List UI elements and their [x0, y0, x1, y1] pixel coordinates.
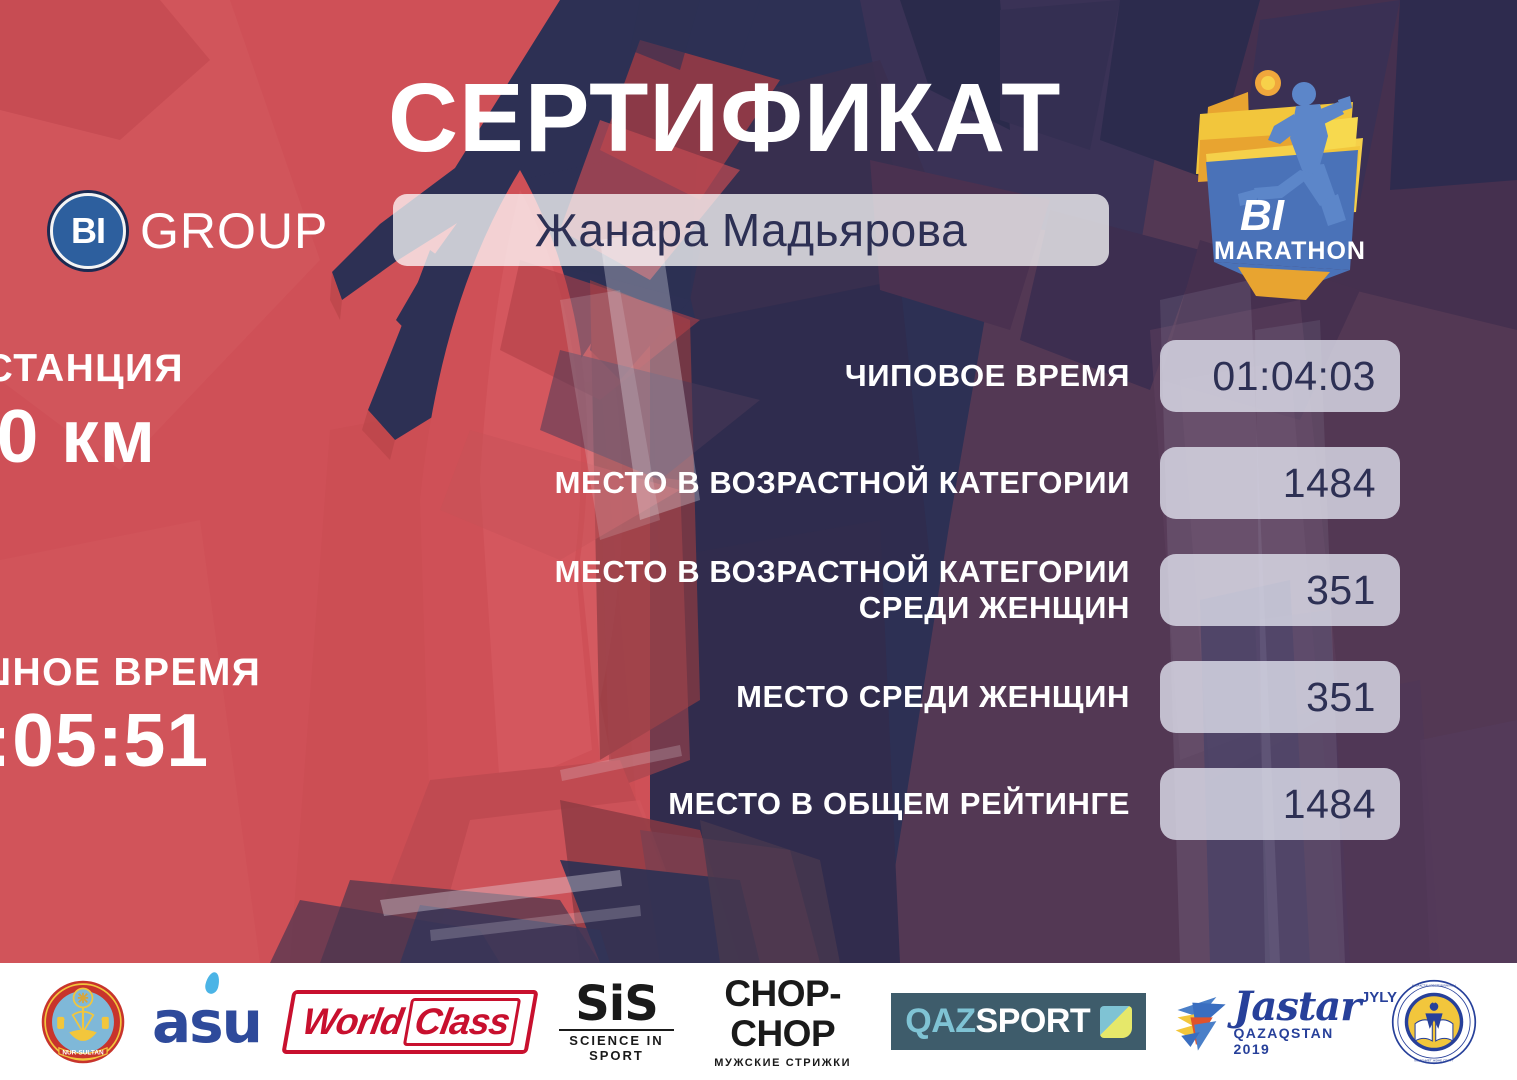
result-label-chip-time: ЧИПОВОЕ ВРЕМЯ — [520, 358, 1160, 394]
sponsor-nur-sultan-emblem: NUR-SULTAN — [40, 976, 126, 1068]
sponsor-science-in-sport: SiS SCIENCE IN SPORT — [559, 976, 674, 1068]
sponsor-jastar-name: Jastar — [1233, 987, 1365, 1027]
qazsport-mark-icon — [1100, 1006, 1132, 1038]
table-row: ЧИПОВОЕ ВРЕМЯ 01:04:03 — [520, 340, 1400, 412]
result-value-overall-place: 1484 — [1160, 768, 1400, 840]
table-row: МЕСТО СРЕДИ ЖЕНЩИН 351 — [520, 661, 1400, 733]
marathon-logo-marathon-text: MARATHON — [1214, 237, 1366, 265]
result-value-chip-time: 01:04:03 — [1160, 340, 1400, 412]
result-value-women-place: 351 — [1160, 661, 1400, 733]
result-label-age-category-place: МЕСТО В ВОЗРАСТНОЙ КАТЕГОРИИ — [520, 465, 1160, 501]
certificate-canvas: СЕРТИФИКАТ BI GROUP Жанара Мадьярова — [0, 0, 1517, 1080]
result-value-age-category-place: 1484 — [1160, 447, 1400, 519]
result-label-age-category-women-place: МЕСТО В ВОЗРАСТНОЙ КАТЕГОРИИ СРЕДИ ЖЕНЩИ… — [520, 554, 1160, 626]
table-row: МЕСТО В ОБЩЕМ РЕЙТИНГЕ 1484 — [520, 768, 1400, 840]
stat-distance-label: ДИСТАНЦИЯ — [0, 346, 335, 391]
sponsor-chop-chop-tagline: МУЖСКИЕ СТРИЖКИ — [700, 1057, 865, 1069]
bi-marathon-logo: BI MARATHON — [1178, 62, 1398, 312]
sponsor-jastar-jyly-word: JYLY — [1361, 989, 1397, 1006]
stat-finish-time-label: ФИНИШНОЕ ВРЕМЯ — [0, 650, 335, 695]
nur-sultan-emblem-text: NUR-SULTAN — [62, 1049, 104, 1056]
result-label-overall-place: МЕСТО В ОБЩЕМ РЕЙТИНГЕ — [520, 786, 1160, 822]
sponsor-qazsport: QAZ SPORT — [891, 976, 1146, 1068]
stat-distance-value: 10 км — [0, 395, 335, 477]
sponsor-world-class: World Class — [287, 976, 533, 1068]
stat-distance: ДИСТАНЦИЯ 10 км — [0, 346, 335, 477]
jastar-bird-icon — [1172, 987, 1229, 1057]
result-value-age-category-women-place: 351 — [1160, 554, 1400, 626]
sponsor-sis-tagline: SCIENCE IN SPORT — [559, 1029, 674, 1063]
ministry-emblem-text: ҚАЗАҚСТАН РЕСПУБЛИКАСЫ — [1412, 983, 1456, 987]
sponsor-asu-text: asu — [152, 988, 261, 1056]
sponsor-sis-mark: SiS — [559, 981, 674, 1027]
sponsor-asu: asu — [152, 976, 261, 1068]
bi-group-mark-icon: BI — [50, 193, 126, 269]
sponsor-jastar-jyly: Jastar JYLY QAZAQSTAN 2019 — [1172, 976, 1365, 1068]
sponsor-qazsport-word1: QAZ — [905, 1002, 975, 1041]
sponsor-chop-chop-name: CHOP-CHOP — [700, 974, 865, 1054]
page-title: СЕРТИФИКАТ — [388, 62, 1134, 174]
ministry-emblem-text-bottom: МӘДЕНИЕТ ЖӘНЕ СПОРТ — [1414, 1058, 1453, 1062]
certificate-content: СЕРТИФИКАТ BI GROUP Жанара Мадьярова — [0, 0, 1517, 963]
participant-name-banner: Жанара Мадьярова — [393, 194, 1109, 266]
sponsor-ministry-emblem: ҚАЗАҚСТАН РЕСПУБЛИКАСЫ МӘДЕНИЕТ ЖӘНЕ СПО… — [1391, 976, 1477, 1068]
sponsor-bar: NUR-SULTAN asu World Class SiS SCIENCE I… — [0, 963, 1517, 1080]
sponsor-chop-chop: CHOP-CHOP МУЖСКИЕ СТРИЖКИ — [700, 976, 865, 1068]
stat-finish-time: ФИНИШНОЕ ВРЕМЯ 01:05:51 — [0, 650, 335, 781]
bi-group-wordmark: GROUP — [140, 202, 328, 260]
table-row: МЕСТО В ВОЗРАСТНОЙ КАТЕГОРИИ СРЕДИ ЖЕНЩИ… — [520, 554, 1400, 626]
result-label-women-place: МЕСТО СРЕДИ ЖЕНЩИН — [520, 679, 1160, 715]
stat-finish-time-value: 01:05:51 — [0, 699, 335, 781]
marathon-logo-bi-text: BI — [1240, 191, 1285, 240]
sponsor-world-class-word1: World — [299, 1001, 406, 1043]
sponsor-world-class-word2: Class — [403, 998, 521, 1046]
bi-group-logo: BI GROUP — [50, 193, 328, 269]
table-row: МЕСТО В ВОЗРАСТНОЙ КАТЕГОРИИ 1484 — [520, 447, 1400, 519]
participant-name: Жанара Мадьярова — [535, 203, 967, 257]
sponsor-qazsport-word2: SPORT — [976, 1002, 1091, 1041]
